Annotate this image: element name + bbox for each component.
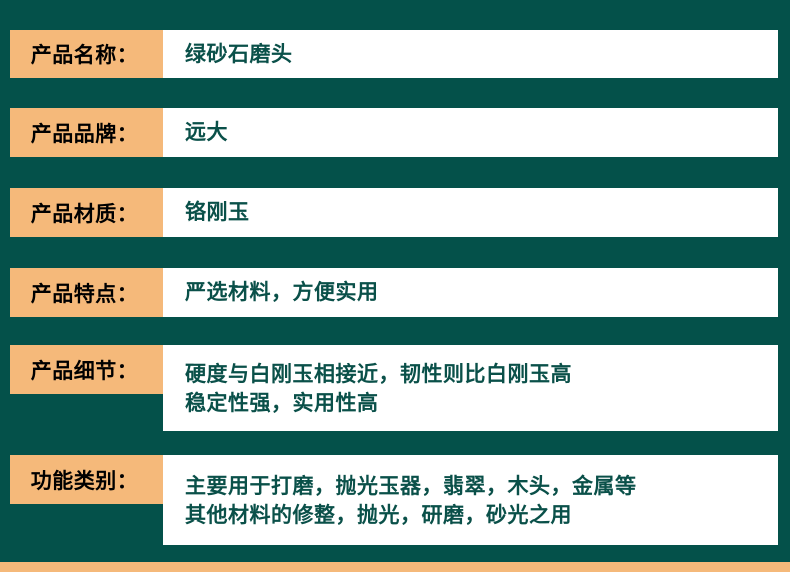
- spec-value-product-material: 铬刚玉: [163, 188, 778, 237]
- spec-row-product-material: 产品材质： 铬刚玉: [10, 188, 778, 237]
- spec-row-product-details: 产品细节： 硬度与白刚玉相接近，韧性则比白刚玉高 稳定性强，实用性高: [10, 345, 778, 431]
- spec-value-line: 严选材料，方便实用: [185, 278, 778, 307]
- bottom-accent-bar: [0, 562, 790, 572]
- spec-row-product-features: 产品特点： 严选材料，方便实用: [10, 268, 778, 317]
- spec-row-function-category: 功能类别： 主要用于打磨，抛光玉器，翡翠，木头，金属等 其他材料的修整，抛光，研…: [10, 455, 778, 545]
- spec-label-slot: 功能类别：: [10, 455, 163, 545]
- spec-value-line: 远大: [185, 118, 778, 147]
- spec-row-product-brand: 产品品牌： 远大: [10, 108, 778, 157]
- spec-value-function-category: 主要用于打磨，抛光玉器，翡翠，木头，金属等 其他材料的修整，抛光，研磨，砂光之用: [163, 455, 778, 545]
- spec-label-product-details: 产品细节：: [10, 345, 163, 394]
- spec-value-line: 硬度与白刚玉相接近，韧性则比白刚玉高: [185, 360, 778, 389]
- spec-label-product-features: 产品特点：: [10, 268, 163, 317]
- spec-value-product-brand: 远大: [163, 108, 778, 157]
- spec-row-product-name: 产品名称： 绿砂石磨头: [10, 30, 778, 78]
- spec-value-product-name: 绿砂石磨头: [163, 30, 778, 78]
- spec-label-function-category: 功能类别：: [10, 455, 163, 504]
- spec-value-line: 其他材料的修整，抛光，研磨，砂光之用: [185, 501, 778, 530]
- spec-value-line: 稳定性强，实用性高: [185, 389, 778, 418]
- spec-value-line: 绿砂石磨头: [185, 40, 778, 69]
- spec-value-line: 铬刚玉: [185, 198, 778, 227]
- spec-label-slot: 产品细节：: [10, 345, 163, 431]
- product-spec-sheet: 产品名称： 绿砂石磨头 产品品牌： 远大 产品材质： 铬刚玉 产品特点： 严选材…: [0, 0, 790, 572]
- spec-label-product-material: 产品材质：: [10, 188, 163, 237]
- spec-label-product-name: 产品名称：: [10, 30, 163, 78]
- spec-value-product-details: 硬度与白刚玉相接近，韧性则比白刚玉高 稳定性强，实用性高: [163, 345, 778, 431]
- spec-value-product-features: 严选材料，方便实用: [163, 268, 778, 317]
- spec-value-line: 主要用于打磨，抛光玉器，翡翠，木头，金属等: [185, 472, 778, 501]
- spec-label-product-brand: 产品品牌：: [10, 108, 163, 157]
